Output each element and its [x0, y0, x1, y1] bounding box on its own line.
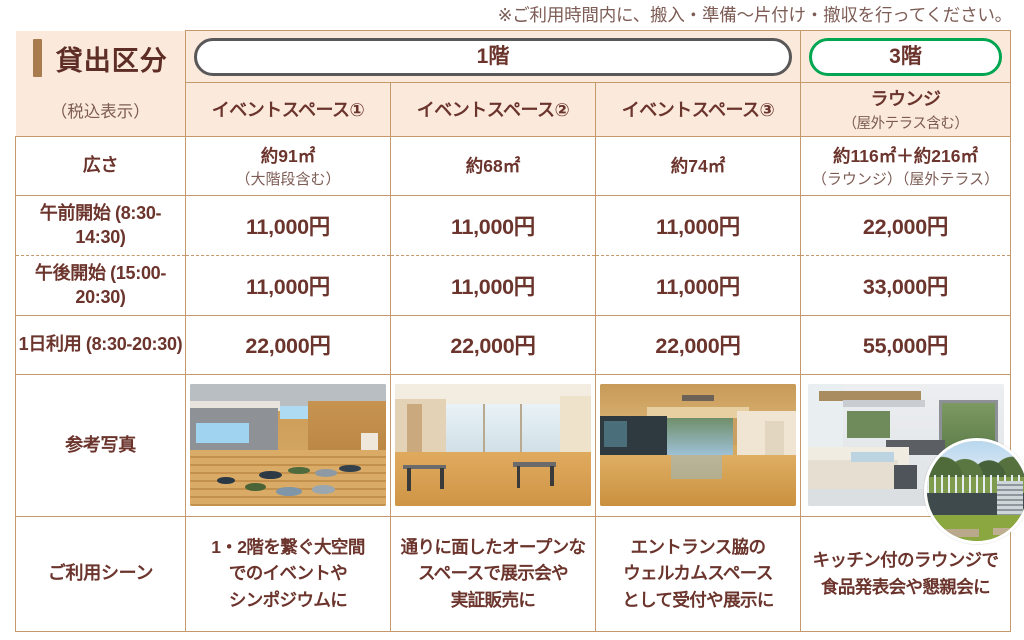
floor-badge-cell-1f: 1階	[186, 31, 801, 83]
photo-cell-2	[391, 374, 596, 516]
table-row-scene: ご利用シーン 1・2階を繋ぐ大空間 でのイベントや シンポジウムに 通りに面した…	[16, 516, 1011, 631]
page-title: 貸出区分	[56, 39, 168, 78]
photo-cell-1	[186, 374, 391, 516]
photo-cell-3	[596, 374, 801, 516]
photo-cell-4	[801, 374, 1011, 516]
area-value-3: 約74㎡	[596, 153, 800, 178]
space-sub-4: （屋外テラス含む）	[805, 112, 1006, 133]
usage-time-note: ※ご利用時間内に、搬入・準備～片付け・撤収を行ってください。	[0, 2, 1012, 28]
area-cell-2: 約68㎡	[391, 136, 596, 195]
rental-rate-table: 貸出区分 （税込表示） 1階 3階 イベントスペース① イベ	[15, 30, 1011, 632]
space-name-2: イベントスペース②	[395, 96, 591, 122]
space-name-4: ラウンジ	[805, 85, 1006, 111]
area-cell-4: 約116㎡＋約216㎡ （ラウンジ）（屋外テラス）	[801, 136, 1011, 195]
space-header-1: イベントスペース①	[186, 83, 391, 136]
price-cell-morning-4: 22,000円	[801, 195, 1011, 255]
floor-badge-cell-3f: 3階	[801, 31, 1011, 83]
scene-text-1: 1・2階を繋ぐ大空間 でのイベントや シンポジウムに	[186, 534, 390, 613]
area-sub-1: （大階段含む）	[186, 168, 390, 189]
area-value-2: 約68㎡	[391, 153, 595, 178]
table-row-area: 広さ 約91㎡ （大階段含む） 約68㎡ 約74㎡ 約116㎡＋約216㎡ （ラ…	[16, 136, 1011, 195]
scene-text-4: キッチン付のラウンジで 食品発表会や懇親会に	[801, 547, 1010, 600]
table-row-allday: 1日利用 (8:30-20:30) 22,000円 22,000円 22,000…	[16, 315, 1011, 374]
tax-note: （税込表示）	[51, 98, 150, 122]
area-cell-1: 約91㎡ （大階段含む）	[186, 136, 391, 195]
area-sub-4: （ラウンジ）（屋外テラス）	[801, 168, 1010, 189]
floor-badge-1f: 1階	[194, 38, 792, 76]
space-name-3: イベントスペース③	[600, 96, 796, 122]
rate-table-page: ※ご利用時間内に、搬入・準備～片付け・撤収を行ってください。 貸出区分 （税込表…	[0, 0, 1024, 640]
table-title-cell: 貸出区分 （税込表示）	[16, 31, 186, 137]
area-value-4: 約116㎡＋約216㎡	[801, 143, 1010, 168]
row-label-photos: 参考写真	[16, 374, 186, 516]
scene-text-2: 通りに面したオープンな スペースで展示会や 実証販売に	[391, 534, 595, 613]
scene-cell-3: エントランス脇の ウェルカムスペース として受付や展示に	[596, 516, 801, 631]
area-value-1: 約91㎡	[186, 143, 390, 168]
accent-bar-icon	[33, 39, 42, 77]
scene-text-3: エントランス脇の ウェルカムスペース として受付や展示に	[596, 534, 800, 613]
price-cell-afternoon-4: 33,000円	[801, 255, 1011, 315]
table-header-floor-row: 貸出区分 （税込表示） 1階 3階	[16, 31, 1011, 83]
price-cell-afternoon-1: 11,000円	[186, 255, 391, 315]
space-name-1: イベントスペース①	[190, 96, 386, 122]
price-cell-afternoon-2: 11,000円	[391, 255, 596, 315]
outdoor-terrace-inset-photo	[924, 438, 1024, 544]
area-cell-3: 約74㎡	[596, 136, 801, 195]
price-cell-allday-4: 55,000円	[801, 315, 1011, 374]
row-label-afternoon: 午後開始 (15:00-20:30)	[16, 255, 186, 315]
event-space-3-entrance-hall-photo	[600, 384, 796, 506]
table-row-morning: 午前開始 (8:30-14:30) 11,000円 11,000円 11,000…	[16, 195, 1011, 255]
table-row-afternoon: 午後開始 (15:00-20:30) 11,000円 11,000円 11,00…	[16, 255, 1011, 315]
price-cell-morning-2: 11,000円	[391, 195, 596, 255]
price-cell-allday-3: 22,000円	[596, 315, 801, 374]
row-label-allday-time: (8:30-20:30)	[86, 334, 182, 354]
row-label-scene: ご利用シーン	[16, 516, 186, 631]
space-header-3: イベントスペース③	[596, 83, 801, 136]
space-header-2: イベントスペース②	[391, 83, 596, 136]
floor-badge-3f: 3階	[809, 38, 1002, 76]
row-label-allday: 1日利用 (8:30-20:30)	[16, 315, 186, 374]
table-row-photos: 参考写真	[16, 374, 1011, 516]
price-cell-afternoon-3: 11,000円	[596, 255, 801, 315]
price-cell-allday-2: 22,000円	[391, 315, 596, 374]
space-header-4: ラウンジ （屋外テラス含む）	[801, 83, 1011, 136]
scene-cell-1: 1・2階を繋ぐ大空間 でのイベントや シンポジウムに	[186, 516, 391, 631]
price-cell-allday-1: 22,000円	[186, 315, 391, 374]
row-label-morning: 午前開始 (8:30-14:30)	[16, 195, 186, 255]
event-space-1-stepped-hall-photo	[190, 384, 386, 506]
price-cell-morning-3: 11,000円	[596, 195, 801, 255]
event-space-2-open-room-photo	[395, 384, 591, 506]
scene-cell-2: 通りに面したオープンな スペースで展示会や 実証販売に	[391, 516, 596, 631]
row-label-area: 広さ	[16, 136, 186, 195]
price-cell-morning-1: 11,000円	[186, 195, 391, 255]
